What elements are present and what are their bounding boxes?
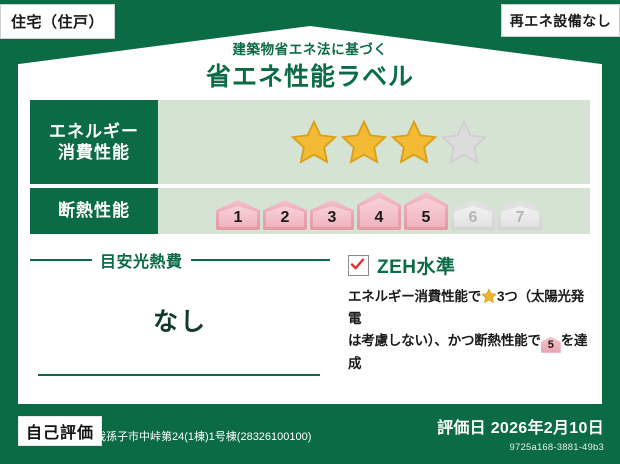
rule-left <box>30 259 92 261</box>
self-evaluation-badge: 自己評価 <box>18 416 102 446</box>
star-empty-icon <box>441 119 487 165</box>
energy-label-line2: 消費性能 <box>58 143 130 162</box>
insulation-performance-row: 断熱性能 1234567 <box>30 188 590 234</box>
zeh-heading: ZEH水準 <box>348 252 590 279</box>
zeh-section: ZEH水準 エネルギー消費性能で3つ（太陽光発電は考慮しない）、かつ断熱性能で5… <box>330 248 590 398</box>
property-address: 我孫子市中峠第24(1棟)1号棟(28326100100) <box>95 428 311 444</box>
check-icon <box>350 257 365 272</box>
zeh-title: ZEH水準 <box>377 252 456 279</box>
energy-performance-label: 住宅（住戸） 再エネ設備なし 建築物省エネ法に基づく 省エネ性能ラベル エネルギ… <box>0 0 620 464</box>
insulation-level-badge: 7 <box>498 200 542 230</box>
star-icon <box>481 288 497 304</box>
energy-performance-row: エネルギー 消費性能 <box>30 100 590 184</box>
label-card: エネルギー 消費性能 断熱性能 1234567 目安光熱費 <box>30 100 590 400</box>
insulation-level-badge: 6 <box>451 200 495 230</box>
zeh-desc-part2: は考慮しない）、かつ断熱性能で <box>348 333 541 348</box>
star-filled-icon <box>341 119 387 165</box>
energy-star-area <box>158 100 590 184</box>
badge-number: 2 <box>281 209 290 227</box>
zeh-checkbox[interactable] <box>348 255 369 276</box>
energy-label-line1: エネルギー <box>49 122 139 141</box>
lower-section: 目安光熱費 なし ZEH水準 エネルギー消費性能で3つ（太陽光発電は考慮しな <box>30 248 590 398</box>
badge-number: 1 <box>234 209 243 227</box>
badge-number: 7 <box>516 209 525 227</box>
footer: 自己評価 我孫子市中峠第24(1棟)1号棟(28326100100) 評価日 2… <box>0 406 620 464</box>
insulation-level-badges: 1234567 <box>216 192 542 230</box>
evaluation-date: 評価日 2026年2月10日 <box>437 414 604 438</box>
insulation-level-badge: 5 <box>404 192 448 230</box>
insulation-level-badge: 4 <box>357 192 401 230</box>
utility-cost-section: 目安光熱費 なし <box>30 248 330 398</box>
insulation-badge-inline: 5 <box>541 337 561 353</box>
energy-performance-label-box: エネルギー 消費性能 <box>30 100 158 184</box>
zeh-desc-part1: エネルギー消費性能で <box>348 289 481 304</box>
utility-cost-heading: 目安光熱費 <box>30 248 330 272</box>
badge-number: 5 <box>422 209 431 227</box>
utility-cost-value: なし <box>30 302 330 338</box>
badge-number: 3 <box>328 209 337 227</box>
insulation-level-badge: 1 <box>216 200 260 230</box>
label-subtitle: 建築物省エネ法に基づく <box>0 38 620 58</box>
insulation-badge-area: 1234567 <box>158 188 590 234</box>
insulation-level-badge: 3 <box>310 200 354 230</box>
page-title: 省エネ性能ラベル <box>0 57 620 93</box>
insulation-performance-label-box: 断熱性能 <box>30 188 158 234</box>
star-rating <box>291 119 487 165</box>
zeh-description: エネルギー消費性能で3つ（太陽光発電は考慮しない）、かつ断熱性能で5を達成 <box>348 286 590 375</box>
rule-right <box>191 259 330 261</box>
insulation-level-badge: 2 <box>263 200 307 230</box>
utility-cost-title: 目安光熱費 <box>100 248 183 272</box>
utility-cost-bottom-rule <box>38 374 320 376</box>
star-filled-icon <box>291 119 337 165</box>
badge-number: 4 <box>375 209 384 227</box>
insulation-badge-inline-number: 5 <box>548 339 554 351</box>
badge-number: 6 <box>469 209 478 227</box>
evaluation-id: 9725a168-3881-49b3 <box>510 442 604 453</box>
star-filled-icon <box>391 119 437 165</box>
